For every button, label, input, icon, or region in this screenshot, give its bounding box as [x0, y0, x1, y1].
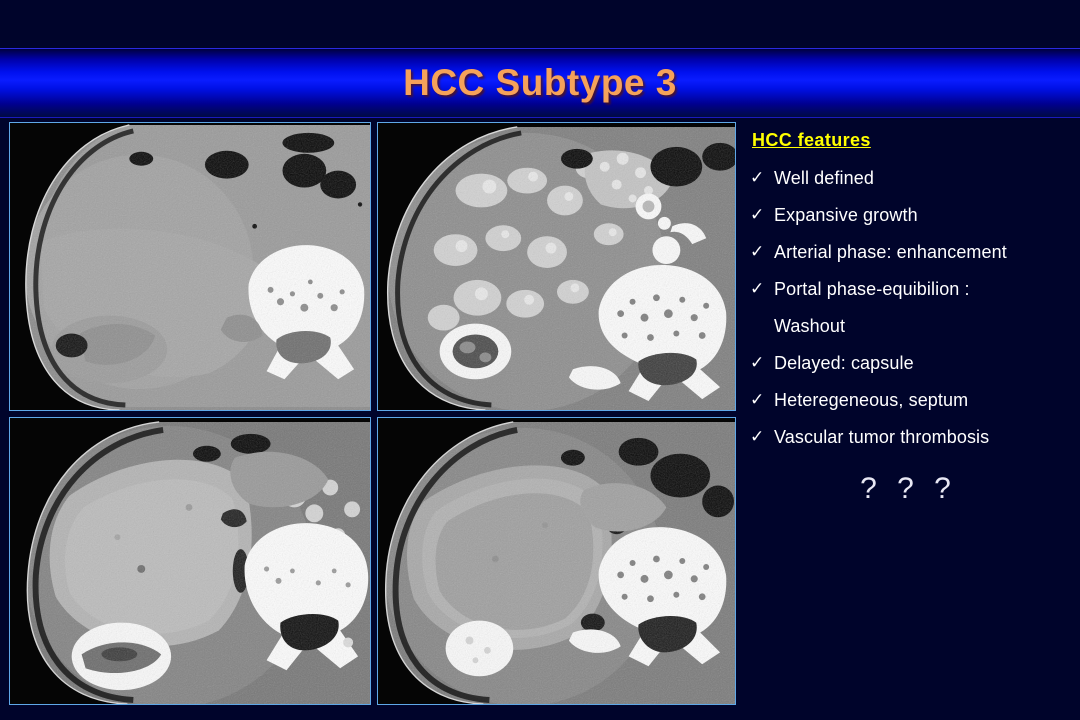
- ct-image-portal-venous[interactable]: [9, 417, 371, 705]
- ct-image-arterial[interactable]: [377, 122, 736, 411]
- feature-item-arterial-phase: ✓ Arterial phase: enhancement: [750, 239, 1075, 265]
- feature-label: Portal phase-equibilion :: [774, 276, 1075, 302]
- feature-label: Arterial phase: enhancement: [774, 239, 1075, 265]
- feature-item-well-defined: ✓ Well defined: [750, 165, 1075, 191]
- feature-item-heterogeneous-septum: ✓ Heteregeneous, septum: [750, 387, 1075, 413]
- feature-item-portal-phase: ✓ Portal phase-equibilion :: [750, 276, 1075, 302]
- feature-item-delayed-capsule: ✓ Delayed: capsule: [750, 350, 1075, 376]
- feature-label: Washout: [774, 313, 1075, 339]
- ct-image-noncontrast[interactable]: [9, 122, 371, 411]
- checkmark-icon: ✓: [750, 202, 774, 228]
- feature-item-vascular-thrombosis: ✓ Vascular tumor thrombosis: [750, 424, 1075, 450]
- question-marks: ? ? ?: [750, 472, 1075, 506]
- hcc-features-panel: HCC features ✓ Well defined ✓ Expansive …: [750, 130, 1075, 506]
- checkmark-icon: ✓: [750, 239, 774, 265]
- feature-item-washout-continuation: Washout: [750, 313, 1075, 339]
- checkmark-icon: ✓: [750, 165, 774, 191]
- checkmark-icon: ✓: [750, 387, 774, 413]
- features-heading: HCC features: [752, 130, 1075, 151]
- presentation-slide: HCC Subtype 3: [0, 0, 1080, 720]
- checkmark-icon: ✓: [750, 350, 774, 376]
- checkmark-icon: ✓: [750, 424, 774, 450]
- ct-image-delayed[interactable]: [377, 417, 736, 705]
- checkmark-icon: ✓: [750, 276, 774, 302]
- title-banner: HCC Subtype 3: [0, 48, 1080, 118]
- feature-label: Well defined: [774, 165, 1075, 191]
- slide-title: HCC Subtype 3: [0, 48, 1080, 118]
- feature-label: Heteregeneous, septum: [774, 387, 1075, 413]
- feature-item-expansive-growth: ✓ Expansive growth: [750, 202, 1075, 228]
- feature-label: Delayed: capsule: [774, 350, 1075, 376]
- feature-label: Vascular tumor thrombosis: [774, 424, 1075, 450]
- feature-label: Expansive growth: [774, 202, 1075, 228]
